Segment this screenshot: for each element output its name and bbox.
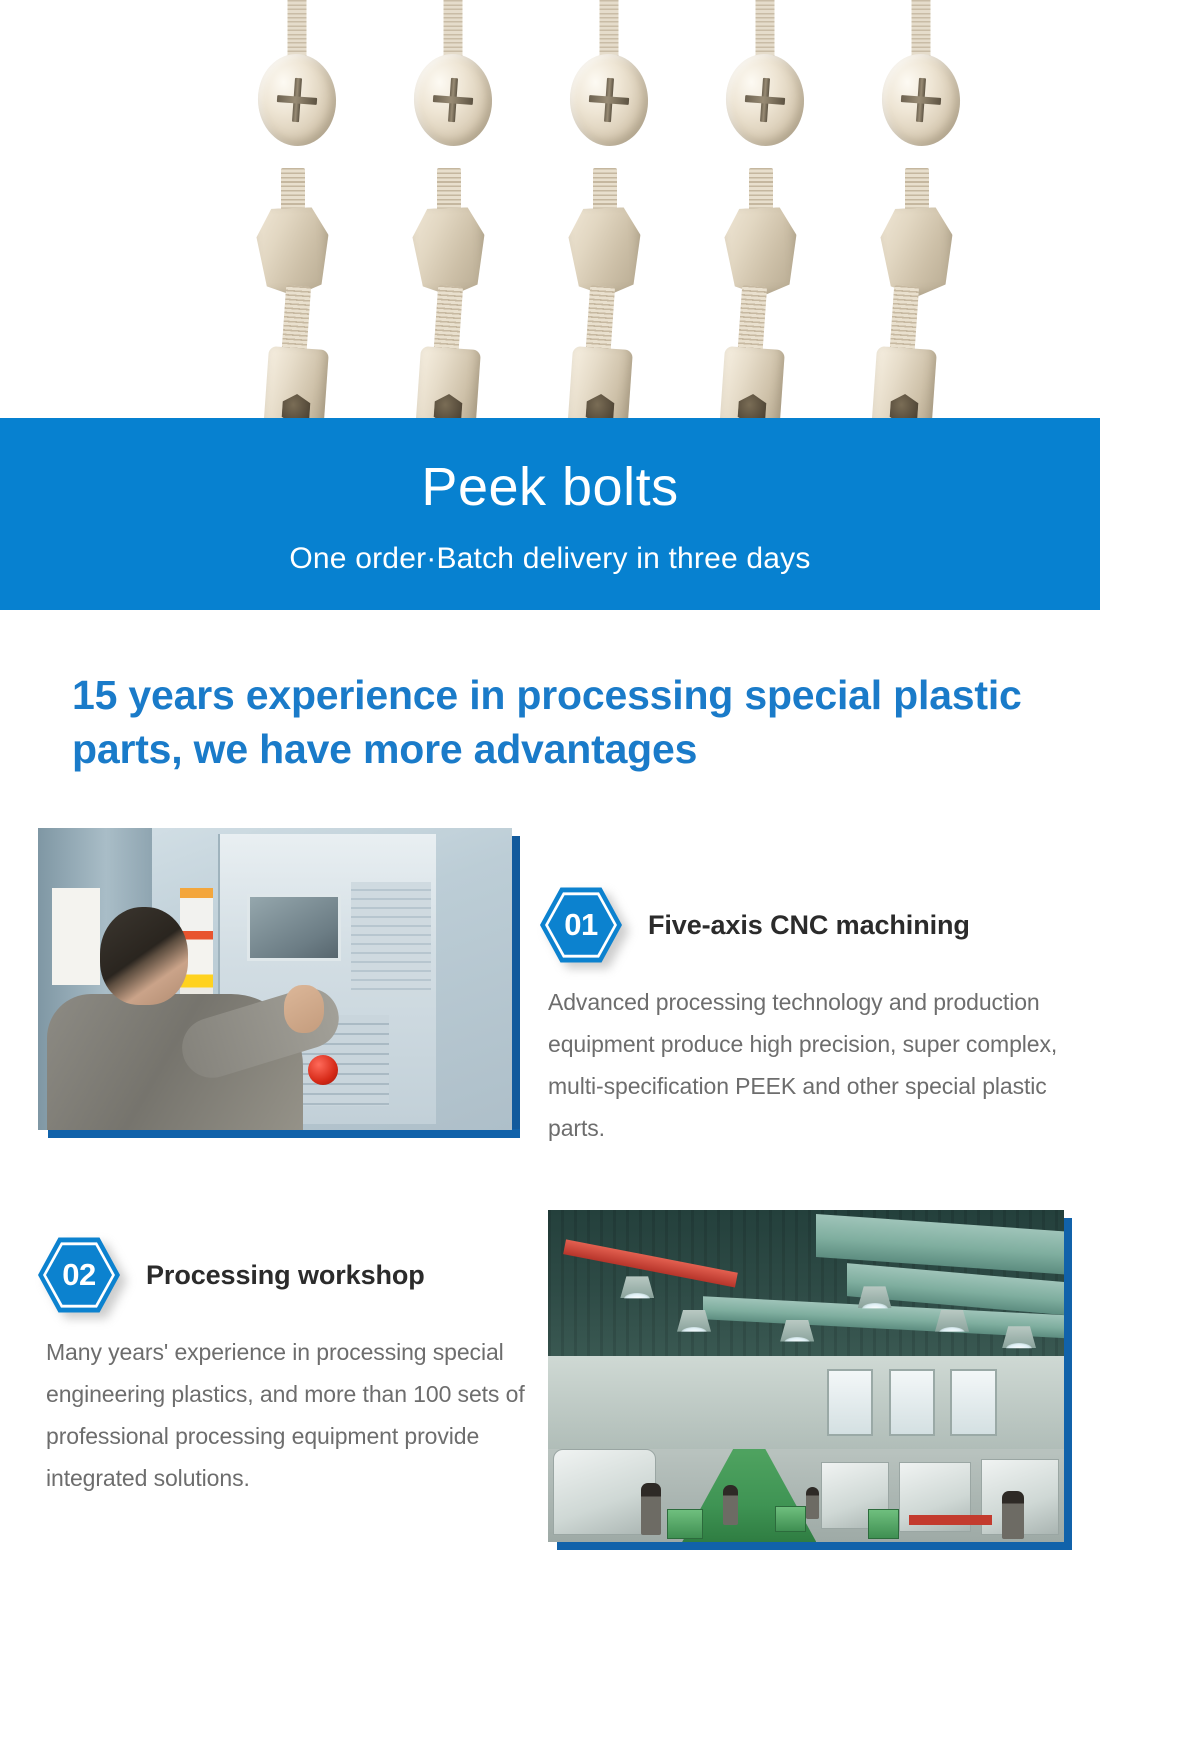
feature-description: Many years' experience in processing spe… bbox=[38, 1332, 530, 1499]
feature-02-header: 02 Processing workshop bbox=[38, 1236, 530, 1314]
screw-head bbox=[256, 52, 339, 148]
cnc-machining-photo bbox=[38, 828, 520, 1138]
hex-head-bolt bbox=[401, 168, 497, 298]
photo-accent-edge-right bbox=[1063, 1218, 1072, 1550]
red-floor-marking bbox=[909, 1515, 992, 1525]
workshop-window bbox=[827, 1369, 873, 1435]
product-detail-page: Peek bolts One order·Batch delivery in t… bbox=[0, 0, 1200, 1752]
workshop-worker bbox=[723, 1485, 738, 1525]
flat-head-phillips-screw bbox=[869, 0, 973, 154]
socket-cap-screw bbox=[852, 286, 956, 418]
phillips-slot-horizontal bbox=[277, 95, 317, 105]
hex-head-bolt bbox=[557, 168, 653, 298]
phillips-slot-horizontal bbox=[589, 95, 629, 105]
hex-head bbox=[879, 207, 954, 297]
photo-accent-edge-bottom bbox=[48, 1129, 520, 1138]
photo-frame bbox=[38, 828, 512, 1130]
workshop-window bbox=[889, 1369, 935, 1435]
parts-trolley bbox=[868, 1509, 899, 1539]
product-title: Peek bolts bbox=[0, 418, 1100, 514]
hex-head bbox=[567, 207, 642, 297]
hexagon-badge-icon: 01 bbox=[540, 886, 622, 964]
feature-number: 02 bbox=[38, 1236, 120, 1314]
operator-head bbox=[100, 907, 188, 1005]
hex-head bbox=[723, 207, 798, 297]
cnc-display-screen bbox=[247, 894, 342, 960]
hex-head-bolt bbox=[869, 168, 965, 298]
hex-head bbox=[411, 207, 486, 297]
bolt-row-flat-head-phillips bbox=[0, 0, 1200, 154]
feature-02-text: 02 Processing workshop Many years' exper… bbox=[38, 1236, 530, 1499]
bolt-row-socket-cap bbox=[0, 286, 1200, 418]
flat-head-phillips-screw bbox=[713, 0, 817, 154]
phillips-slot-horizontal bbox=[745, 95, 785, 105]
phillips-slot-horizontal bbox=[433, 95, 473, 105]
parts-trolley bbox=[775, 1506, 806, 1533]
photo-frame bbox=[548, 1210, 1064, 1542]
flat-head-phillips-screw bbox=[245, 0, 349, 154]
feature-block-02: 02 Processing workshop Many years' exper… bbox=[0, 1196, 1100, 1752]
cnc-scene bbox=[38, 828, 512, 1130]
hexagon-badge-icon: 02 bbox=[38, 1236, 120, 1314]
hex-head-bolt bbox=[245, 168, 341, 298]
feature-01-text: 01 Five-axis CNC machining Advanced proc… bbox=[540, 886, 1070, 1149]
socket-cap-screw bbox=[244, 286, 348, 418]
socket-cap-screw bbox=[396, 286, 500, 418]
screw-head bbox=[568, 52, 651, 148]
flat-head-phillips-screw bbox=[557, 0, 661, 154]
screw-head bbox=[724, 52, 807, 148]
phillips-slot-horizontal bbox=[901, 95, 941, 105]
screw-head bbox=[880, 52, 963, 148]
socket-cap-screw bbox=[548, 286, 652, 418]
workshop-worker bbox=[1002, 1491, 1024, 1539]
feature-title: Processing workshop bbox=[146, 1260, 425, 1291]
feature-description: Advanced processing technology and produ… bbox=[540, 982, 1070, 1149]
hex-head-bolt bbox=[713, 168, 809, 298]
workshop-scene bbox=[548, 1210, 1064, 1542]
workshop-window bbox=[950, 1369, 996, 1435]
product-title-banner: Peek bolts One order·Batch delivery in t… bbox=[0, 418, 1100, 610]
operator-hand bbox=[284, 985, 324, 1033]
workshop-worker bbox=[641, 1483, 661, 1535]
feature-title: Five-axis CNC machining bbox=[648, 910, 970, 941]
hero-product-image bbox=[0, 0, 1200, 418]
workshop-worker bbox=[806, 1487, 819, 1519]
screw-head bbox=[412, 52, 495, 148]
cnc-keypad-upper bbox=[351, 882, 432, 997]
photo-accent-edge-bottom bbox=[557, 1542, 1072, 1550]
flat-head-phillips-screw bbox=[401, 0, 505, 154]
feature-number: 01 bbox=[540, 886, 622, 964]
parts-trolley bbox=[667, 1509, 703, 1539]
socket-cap-screw bbox=[700, 286, 804, 418]
feature-block-01: 01 Five-axis CNC machining Advanced proc… bbox=[0, 828, 1100, 1168]
bolt-row-hex-head bbox=[0, 168, 1200, 298]
workshop-photo bbox=[548, 1210, 1072, 1550]
cnc-posted-document bbox=[52, 888, 99, 985]
section-headline: 15 years experience in processing specia… bbox=[72, 668, 1082, 776]
hex-head bbox=[255, 207, 330, 297]
product-subtitle: One order·Batch delivery in three days bbox=[0, 514, 1100, 576]
emergency-stop-button bbox=[308, 1055, 338, 1085]
feature-01-header: 01 Five-axis CNC machining bbox=[540, 886, 1070, 964]
